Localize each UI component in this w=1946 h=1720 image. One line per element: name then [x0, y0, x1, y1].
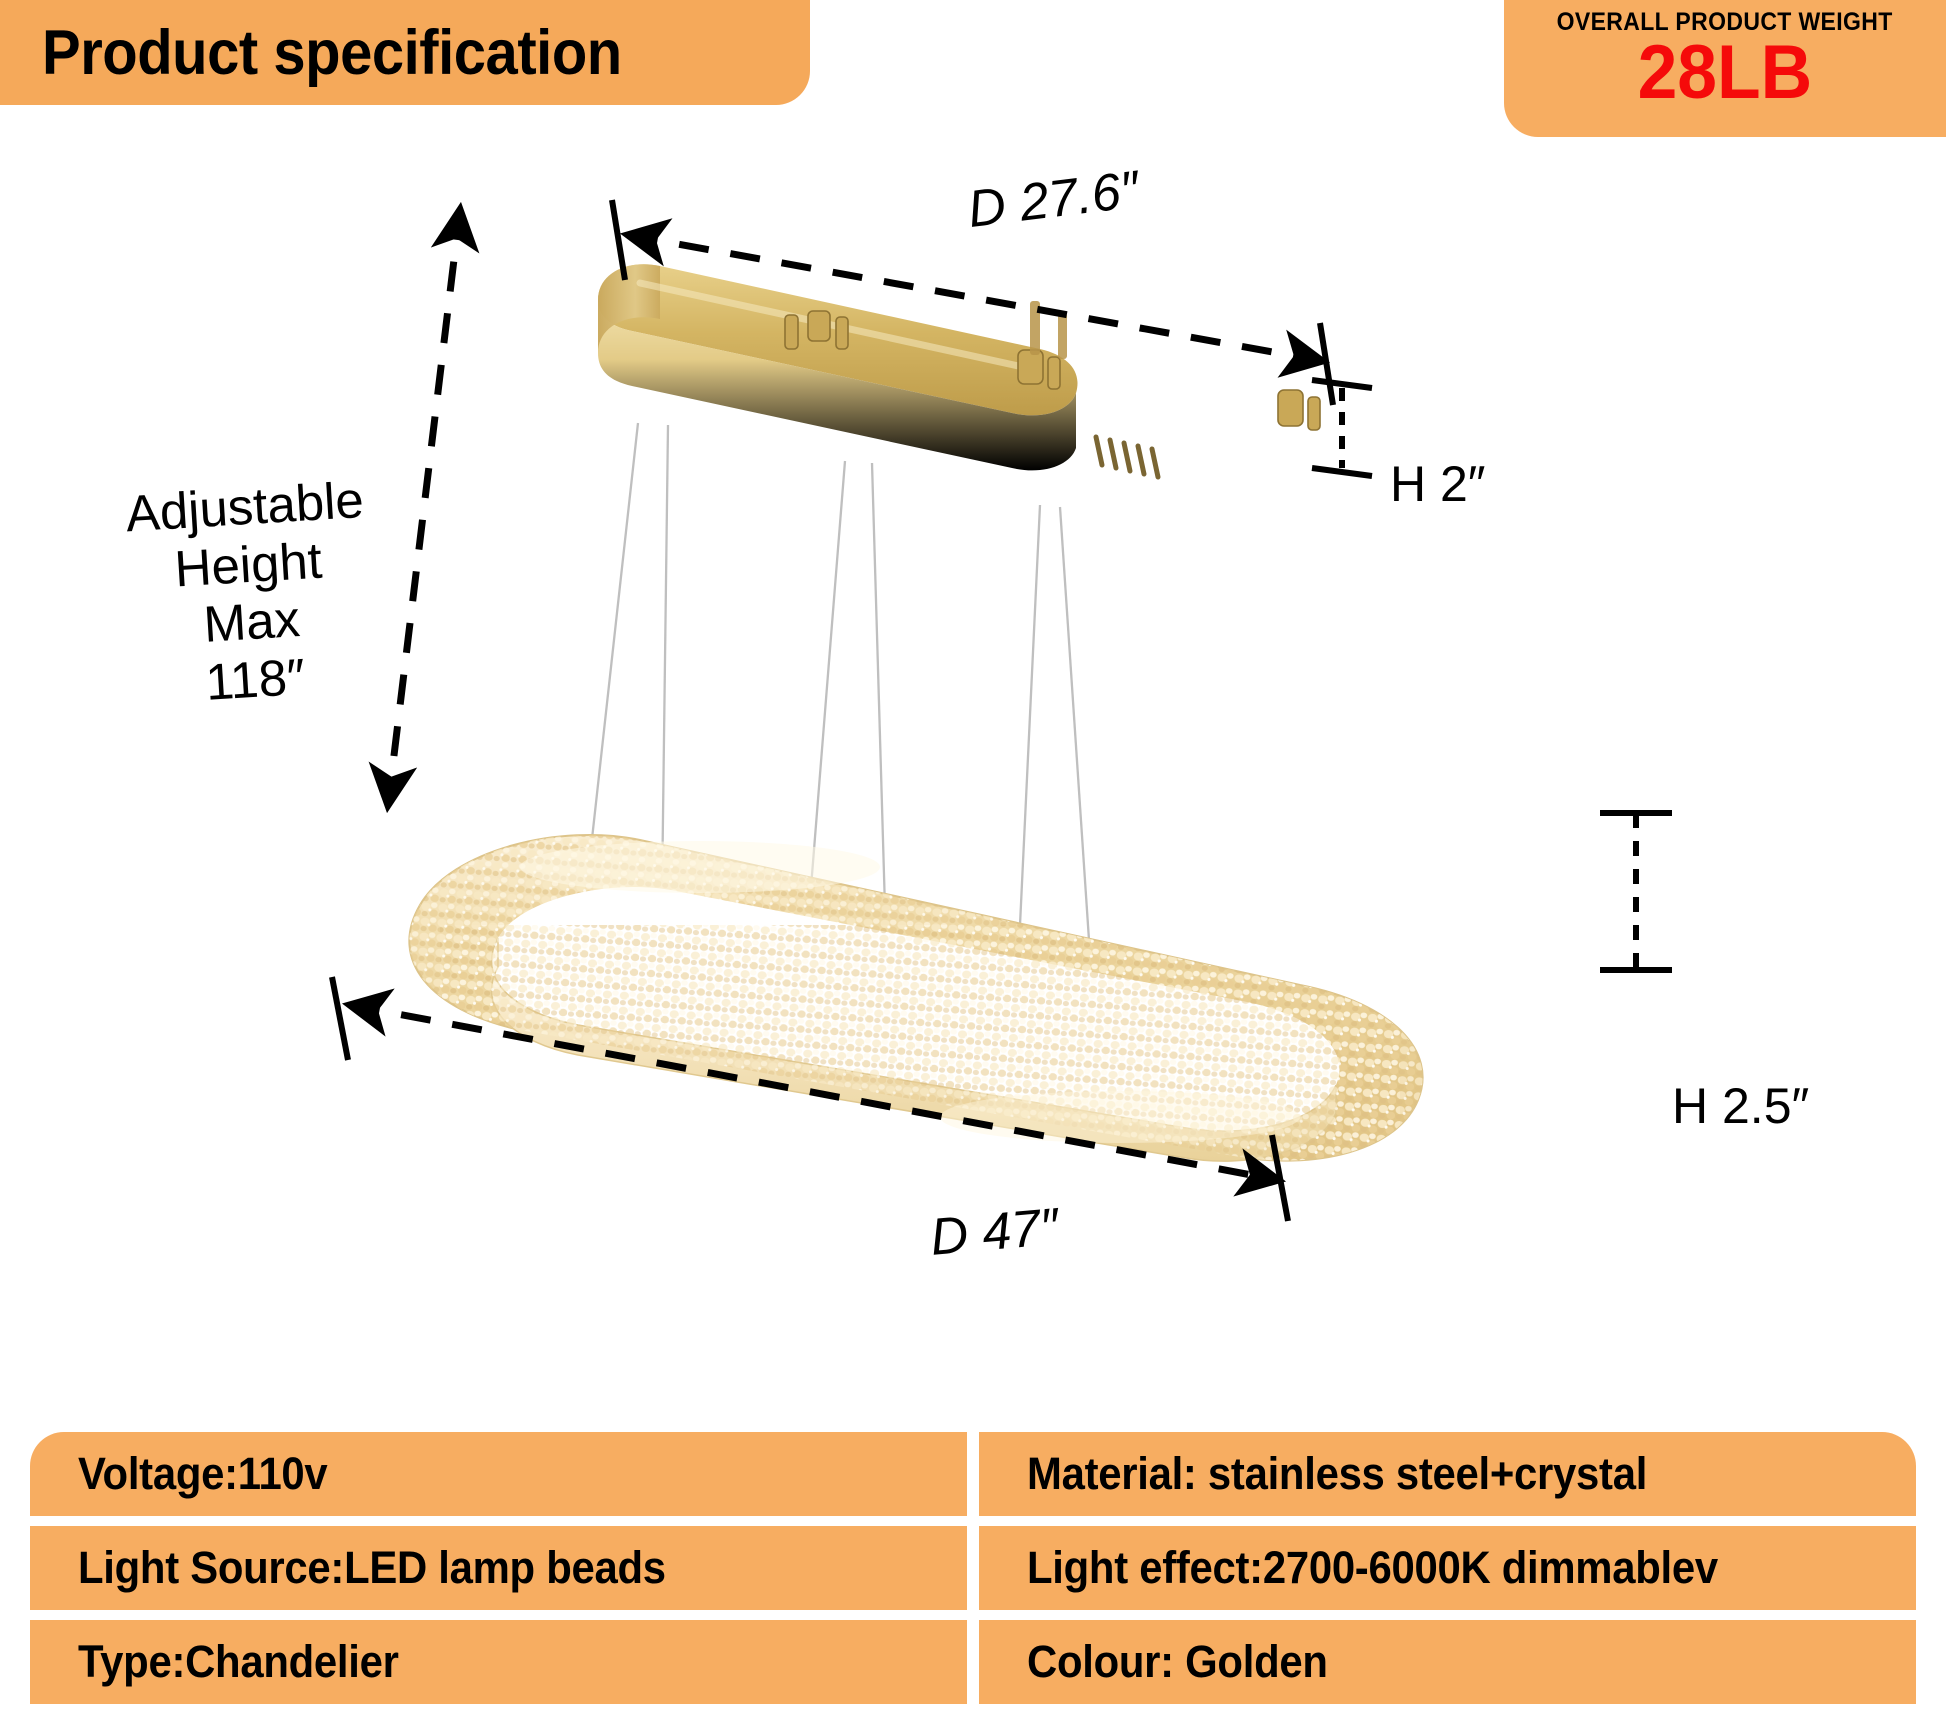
weight-value: 28LB — [1638, 38, 1813, 108]
ceiling-canopy — [598, 264, 1158, 477]
spec-row-material: Material: stainless steel+crystal — [979, 1432, 1916, 1516]
specification-table: Voltage:110v Light Source:LED lamp beads… — [30, 1432, 1916, 1704]
ring-width-label: D 47″ — [928, 1197, 1061, 1268]
spec-row-colour: Colour: Golden — [979, 1620, 1916, 1704]
spec-row-light-effect: Light effect:2700-6000K dimmablev — [979, 1526, 1916, 1610]
spec-column-right: Material: stainless steel+crystal Light … — [979, 1432, 1916, 1704]
spec-column-left: Voltage:110v Light Source:LED lamp beads… — [30, 1432, 967, 1704]
spec-row-voltage: Voltage:110v — [30, 1432, 967, 1516]
spec-row-type: Type:Chandelier — [30, 1620, 967, 1704]
canopy-height-dimension — [1312, 380, 1372, 476]
canopy-height-label: H 2″ — [1390, 455, 1486, 513]
product-specification-header: Product specification — [0, 0, 810, 105]
page-title: Product specification — [42, 17, 622, 89]
adjustable-height-label: Adjustable Height Max 118″ — [73, 468, 426, 719]
ring-height-dimension — [1600, 813, 1672, 970]
ring-height-label: H 2.5″ — [1672, 1077, 1809, 1135]
crystal-oval-ring — [380, 795, 1460, 1215]
canopy-vent-grille — [1096, 437, 1158, 477]
spec-row-light-source: Light Source:LED lamp beads — [30, 1526, 967, 1610]
